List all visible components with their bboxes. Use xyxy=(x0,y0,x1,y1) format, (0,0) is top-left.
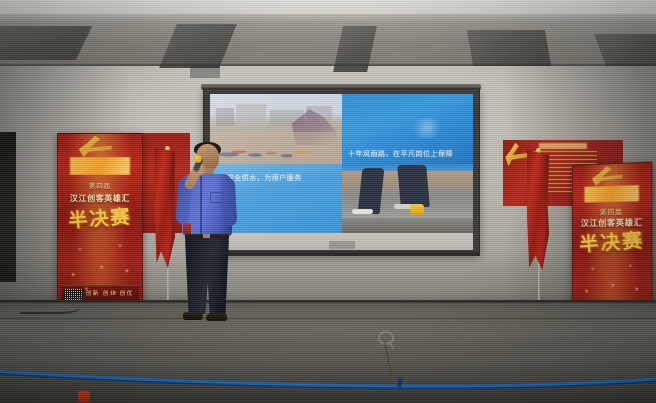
banner-headline: 半决赛 xyxy=(572,232,651,256)
screen-bottom-bar xyxy=(203,250,479,255)
projection-screen: 十年风雨路，在平凡岗位上保障 守安全供水，为用户服务 xyxy=(203,88,480,256)
speaker xyxy=(176,144,238,324)
ceiling-panel xyxy=(594,34,656,66)
red-cup xyxy=(78,391,90,403)
microphone-stand xyxy=(372,330,412,380)
projected-slide: 十年风雨路，在平凡岗位上保障 守安全供水，为用户服务 xyxy=(210,94,473,233)
rollup-banner-left: 第四届 汉江创客英雄汇 半决赛 创新 创业 创优 主办单位：襄阳市科学技术局 襄… xyxy=(57,133,143,315)
floor-wire xyxy=(20,300,80,314)
worker-photo xyxy=(342,164,474,234)
worker-shoe xyxy=(352,209,373,214)
banner-slogan: 创新 创业 创优 xyxy=(86,289,138,297)
ceiling xyxy=(0,0,656,66)
banner-line-1: 第四届 xyxy=(58,180,142,190)
shoe-right xyxy=(206,313,227,321)
trousers xyxy=(185,238,229,314)
banner-headline: 半决赛 xyxy=(57,208,142,232)
ceiling-seam xyxy=(0,64,656,66)
banner-line-1: 第四届 xyxy=(573,205,651,217)
ceiling-panel xyxy=(0,26,92,60)
party-emblem-icon xyxy=(591,166,622,187)
party-emblem-icon xyxy=(78,136,112,158)
wall-poster-title xyxy=(539,143,587,148)
ceiling-front-edge xyxy=(0,0,656,14)
event-logo-icon xyxy=(66,157,133,175)
arm-right xyxy=(221,178,237,227)
microphone-head-icon xyxy=(194,155,202,163)
floor-sheen xyxy=(0,302,656,342)
shoe-left xyxy=(183,312,203,320)
screen-label-plate xyxy=(329,241,355,249)
worker-figure xyxy=(357,168,384,214)
shirt-placket xyxy=(200,176,202,234)
slide-quadrant-bottom-right xyxy=(342,164,474,234)
worker-figure xyxy=(398,165,431,207)
slide-caption-1: 十年风雨路，在平凡岗位上保障 xyxy=(348,149,453,159)
building-shape xyxy=(236,104,266,126)
ceiling-panel xyxy=(159,24,237,68)
ground-shape xyxy=(342,218,474,233)
name-badge xyxy=(183,223,191,234)
party-emblem-icon xyxy=(505,143,527,167)
building-shape xyxy=(216,108,234,126)
yellow-tool-icon xyxy=(410,204,424,215)
slide-quadrant-top-right: 十年风雨路，在平凡岗位上保障 xyxy=(342,94,474,164)
blue-text-panel: 十年风雨路，在平凡岗位上保障 xyxy=(342,94,474,164)
ceiling-beam xyxy=(190,66,220,78)
floor-seam xyxy=(0,318,656,319)
ceiling-panel xyxy=(467,30,551,66)
light-glow xyxy=(410,118,444,139)
dark-doorway xyxy=(0,132,16,282)
banner-line-2: 汉江创客英雄汇 xyxy=(573,217,651,229)
event-logo-icon xyxy=(581,185,644,203)
photo-scene: 十年风雨路，在平凡岗位上保障 守安全供水，为用户服务 xyxy=(0,0,656,403)
banner-line-2: 汉江创客英雄汇 xyxy=(58,193,142,204)
